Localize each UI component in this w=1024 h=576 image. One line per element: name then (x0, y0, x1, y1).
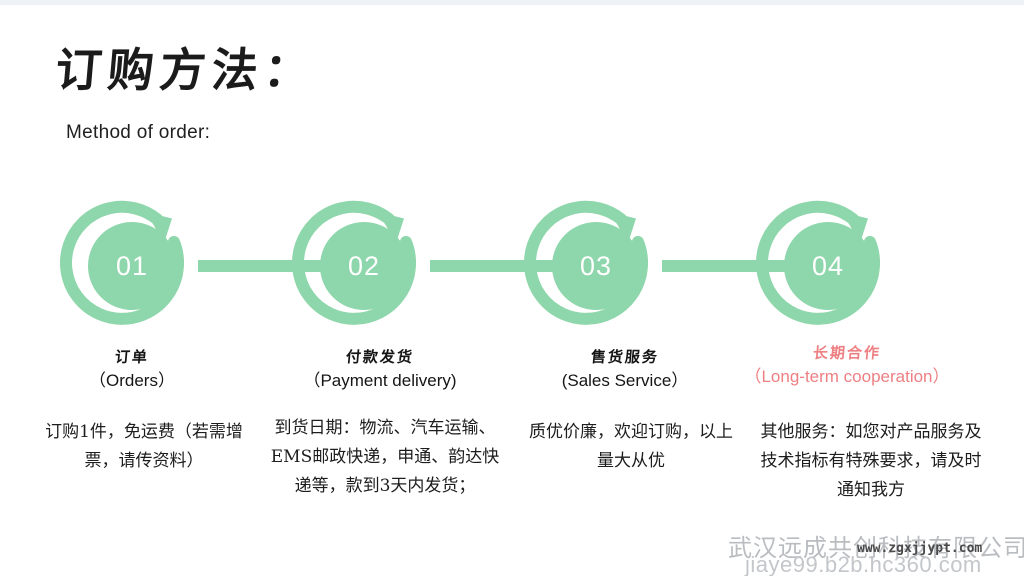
step-number-3: 03 (526, 196, 666, 336)
step-body-1: 订购1件，免运费（若需增票，请传资料） (36, 418, 252, 476)
step-caption-1-cn: 订单 (0, 348, 268, 366)
step-caption-4-en: （Long-term cooperation） (712, 365, 982, 389)
step-body-2: 到货日期：物流、汽车运输、EMS邮政快递，申通、韵达快递等，款到3天内发货； (264, 414, 506, 501)
page-title-en: Method of order: (66, 122, 210, 144)
step-caption-4-cn: 长期合作 (711, 344, 983, 362)
step-number-2: 02 (294, 196, 434, 336)
step-node-1[interactable]: 01 (62, 196, 202, 336)
step-node-4[interactable]: 04 (758, 196, 898, 336)
step-node-3[interactable]: 03 (526, 196, 666, 336)
step-body-4: 其他服务：如您对产品服务及技术指标有特殊要求，请及时通知我方 (754, 418, 988, 505)
step-caption-4: 长期合作 （Long-term cooperation） (712, 344, 982, 389)
page-title-cn: 订购方法： (53, 34, 319, 100)
watermark-url: www.zgxjjypt.com (857, 541, 982, 556)
step-body-3: 质优价廉，欢迎订购，以上量大从优 (528, 418, 734, 476)
step-caption-2-cn: 付款发货 (244, 348, 516, 366)
step-caption-2: 付款发货 （Payment delivery) (245, 348, 515, 393)
step-caption-2-en: （Payment delivery) (245, 369, 515, 393)
slide-canvas: 订购方法： Method of order: 01 02 (0, 0, 1024, 576)
step-node-2[interactable]: 02 (294, 196, 434, 336)
top-edge-strip (0, 0, 1024, 5)
process-flow: 01 02 03 04 (0, 178, 1024, 310)
step-caption-1-en: （Orders） (0, 369, 267, 393)
step-number-4: 04 (758, 196, 898, 336)
step-caption-1: 订单 （Orders） (0, 348, 267, 393)
step-number-1: 01 (62, 196, 202, 336)
